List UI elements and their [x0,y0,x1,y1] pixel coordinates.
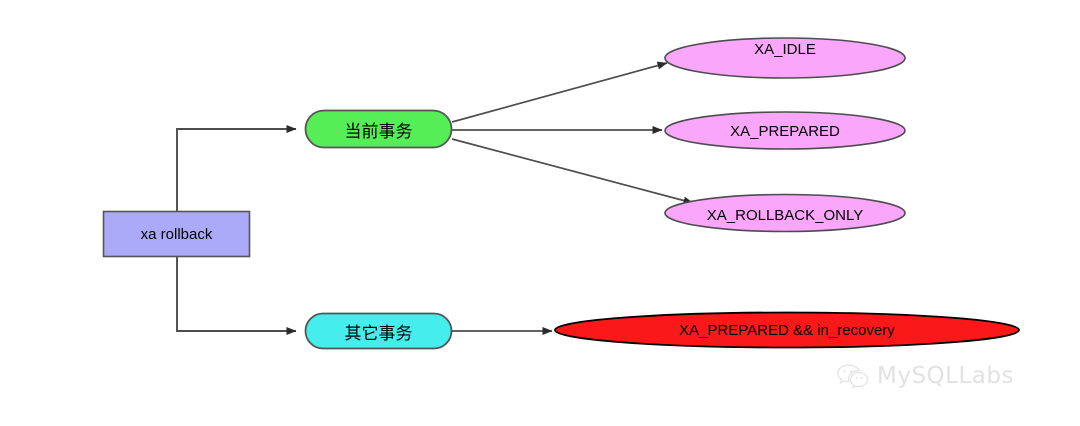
edge-current-transaction-to-xa-idle [452,63,667,122]
node-xa-prepared-in-recovery[interactable] [555,313,1019,348]
watermark: MySQLLabs [836,363,1014,389]
node-current-transaction[interactable] [306,111,452,148]
node-xa-prepared[interactable] [665,112,905,149]
node-other-transaction[interactable] [306,314,452,349]
edge-current-transaction-to-xa-rollback-only [452,139,693,203]
edge-layer [177,63,693,331]
node-xa-idle[interactable] [665,38,905,78]
node-layer [104,38,1020,349]
wechat-icon [836,363,870,389]
node-xa-rollback[interactable] [104,212,250,257]
node-xa-rollback-only[interactable] [665,195,905,232]
watermark-text: MySQLLabs [877,363,1014,389]
